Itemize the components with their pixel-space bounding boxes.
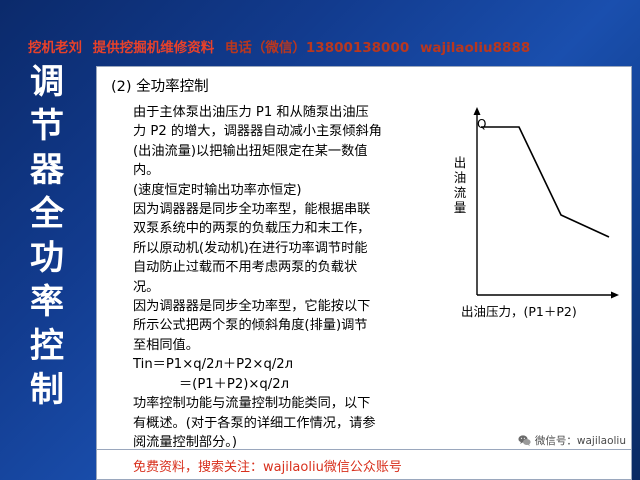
vertical-title-char-2: 器 — [14, 148, 80, 192]
chart-y-axis-label: 出 油 流 量 — [451, 155, 469, 215]
slide-root: 挖机老刘 提供挖掘机维修资料 电话（微信）13800138000 wajilao… — [0, 0, 640, 480]
body-line-6: 双泵系统中的两泵的负载压力和末工作， — [133, 219, 423, 238]
notice-text: 免费资料，搜索关注：wajilaoliu微信公众账号 — [133, 456, 402, 475]
vertical-title-char-1: 节 — [14, 104, 80, 148]
chart-y-axis-label-char-1: 油 — [451, 170, 469, 185]
vertical-title: 调 节 器 全 功 率 控 制 — [14, 60, 80, 460]
banner-segment-3: wajilaoliu8888 — [420, 40, 530, 56]
body-line-8: 自动防止过载而不用考虑两泵的负载状 — [133, 258, 423, 277]
chart-y-axis-label-char-2: 流 — [451, 185, 469, 200]
body-line-7: 所以原动机(发动机)在进行功率调节时能 — [133, 239, 423, 258]
vertical-title-char-0: 调 — [14, 60, 80, 104]
wechat-icon — [518, 435, 531, 446]
body-after-line-1: 有概述。(对于各泵的详细工作情况，请参 — [133, 414, 423, 433]
vertical-title-char-4: 功 — [14, 236, 80, 280]
panel-title: (2) 全功率控制 — [111, 75, 209, 96]
vertical-title-char-7: 制 — [14, 368, 80, 412]
body-text: 由于主体泵出油压力 P1 和从随泵出油压 力 P2 的增大，调器器自动减小主泵倾… — [133, 103, 423, 452]
body-line-0: 由于主体泵出油压力 P1 和从随泵出油压 — [133, 103, 423, 122]
vertical-title-char-5: 率 — [14, 280, 80, 324]
body-line-11: 所示公式把两个泵的倾斜角度(排量)调节 — [133, 316, 423, 335]
body-line-1: 力 P2 的增大，调器器自动减小主泵倾斜角 — [133, 122, 423, 141]
chart-x-arrow — [611, 292, 619, 299]
wechat-icon-svg — [518, 435, 531, 446]
vertical-title-char-3: 全 — [14, 192, 80, 236]
chart-y-axis-symbol: Q — [477, 117, 486, 131]
chart-data-curve — [481, 127, 609, 237]
banner-segment-2: 电话（微信）13800138000 — [225, 40, 409, 56]
chart-y-axis-label-char-3: 量 — [451, 200, 469, 215]
body-line-9: 况。 — [133, 278, 423, 297]
body-line-12: 至相同值。 — [133, 336, 423, 355]
equation-line-1: ＝(P1＋P2)×q/2л — [133, 375, 423, 394]
body-line-4: (速度恒定时输出功率亦恒定) — [133, 181, 423, 200]
body-line-3: 内。 — [133, 161, 423, 180]
body-line-2: (出油流量)以把输出扭矩限定在某一数值 — [133, 142, 423, 161]
banner-segment-0: 挖机老刘 — [28, 40, 82, 56]
wechat-credit: 微信号：wajilaoliu — [518, 433, 626, 448]
banner-segment-1: 提供挖掘机维修资料 — [93, 40, 215, 56]
body-line-10: 因为调器器是同步全功率型，它能按以下 — [133, 297, 423, 316]
top-banner: 挖机老刘 提供挖掘机维修资料 电话（微信）13800138000 wajilao… — [28, 36, 628, 56]
body-after-line-0: 功率控制功能与流量控制功能类同，以下 — [133, 394, 423, 413]
chart-y-axis-label-char-0: 出 — [451, 155, 469, 170]
notice-bar: 免费资料，搜索关注：wajilaoliu微信公众账号 — [96, 450, 632, 480]
vertical-title-char-6: 控 — [14, 324, 80, 368]
chart-x-axis-label: 出油压力，(P1＋P2) — [461, 301, 577, 320]
chart-y-arrow — [474, 107, 481, 115]
flow-pressure-chart: Q 出 油 流 量 出油压力，(P1＋P2) — [437, 105, 622, 335]
equation-line-0: Tin＝P1×q/2л＋P2×q/2л — [133, 355, 423, 374]
wechat-label: 微信号：wajilaoliu — [535, 433, 626, 448]
body-line-5: 因为调器器是同步全功率型，能根据串联 — [133, 200, 423, 219]
content-panel: (2) 全功率控制 由于主体泵出油压力 P1 和从随泵出油压 力 P2 的增大，… — [96, 66, 632, 450]
